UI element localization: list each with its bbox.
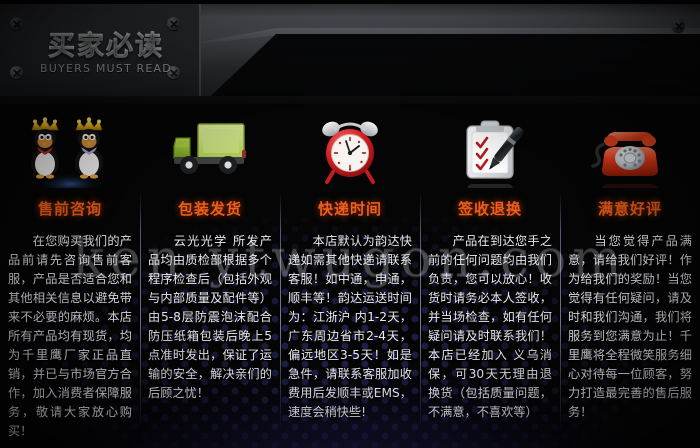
header-bar: 买家必读 BUYERS MUST READ	[0, 0, 700, 104]
buyers-must-read-banner: 买家必读 BUYERS MUST READ	[0, 0, 700, 448]
column-title: 包装发货	[178, 198, 242, 220]
green-truck-icon	[140, 104, 280, 190]
column-body-text: 当您觉得产品满意，请给我们好评！作为给我们的奖励！当您觉得有任何疑问，请及时和我…	[568, 232, 692, 422]
info-columns: 售前咨询 在您购买我们的产品前请先咨询售前客服，产品是否适合您和其他相关信息以避…	[0, 104, 700, 448]
column-body-text: 云光光学 所发产品均由质检部根据多个程序检查后（包括外观与内部质量及配件等）由5…	[148, 232, 272, 403]
screw-icon	[10, 17, 23, 30]
screw-icon	[672, 19, 685, 32]
column-presale-consult: 售前咨询 在您购买我们的产品前请先咨询售前客服，产品是否适合您和其他相关信息以避…	[0, 104, 140, 448]
column-body-text: 本店默认为韵达快递如需其他快递请联系客服！如中通，申通，顺丰等！韵达运送时间为：…	[288, 232, 412, 422]
page-title: 买家必读	[31, 24, 181, 63]
column-body-value: 云光光学 所发产品均由质检部根据多个程序检查后（包括外观与内部质量及配件等）由5…	[148, 234, 272, 400]
column-body-text: 在您购买我们的产品前请先咨询售前客服，产品是否适合您和其他相关信息以避免带来不必…	[8, 232, 132, 441]
column-sign-return-exchange: 签收退换 产品在到达您手之前的任何问题均由我们负责，您可以放心！收货时请务必本人…	[420, 104, 560, 448]
column-satisfaction-review: 满意好评 当您觉得产品满意，请给我们好评！作为给我们的奖励！当您觉得有任何疑问，…	[560, 104, 700, 448]
screw-icon	[10, 66, 23, 79]
header-bevel-cut	[196, 34, 700, 104]
column-body-value: 当您觉得产品满意，请给我们好评！作为给我们的奖励！当您觉得有任何疑问，请及时和我…	[568, 234, 692, 419]
header-shadow	[0, 96, 700, 104]
column-title: 签收退换	[458, 198, 522, 220]
column-title: 售前咨询	[38, 198, 102, 220]
column-packing-shipping: 包装发货 云光光学 所发产品均由质检部根据多个程序检查后（包括外观与内部质量及配…	[140, 104, 280, 448]
column-body-value: 本店默认为韵达快递如需其他快递请联系客服！如中通，申通，顺丰等！韵达运送时间为：…	[288, 234, 412, 419]
red-alarm-clock-icon	[280, 104, 420, 190]
page-subtitle: BUYERS MUST READ	[31, 62, 181, 75]
column-body-text: 产品在到达您手之前的任何问题均由我们负责，您可以放心！收货时请务必本人签收，并当…	[428, 232, 552, 422]
red-telephone-icon	[560, 104, 700, 190]
qq-penguin-crown-icon	[0, 104, 140, 190]
column-title: 快递时间	[318, 198, 382, 220]
column-body-value: 产品在到达您手之前的任何问题均由我们负责，您可以放心！收货时请务必本人签收，并当…	[428, 234, 552, 419]
column-title: 满意好评	[598, 198, 662, 220]
column-delivery-time: 快递时间 本店默认为韵达快递如需其他快递请联系客服！如中通，申通，顺丰等！韵达运…	[280, 104, 420, 448]
column-body-value: 在您购买我们的产品前请先咨询售前客服，产品是否适合您和其他相关信息以避免带来不必…	[8, 234, 132, 438]
clipboard-pen-icon	[420, 104, 560, 190]
